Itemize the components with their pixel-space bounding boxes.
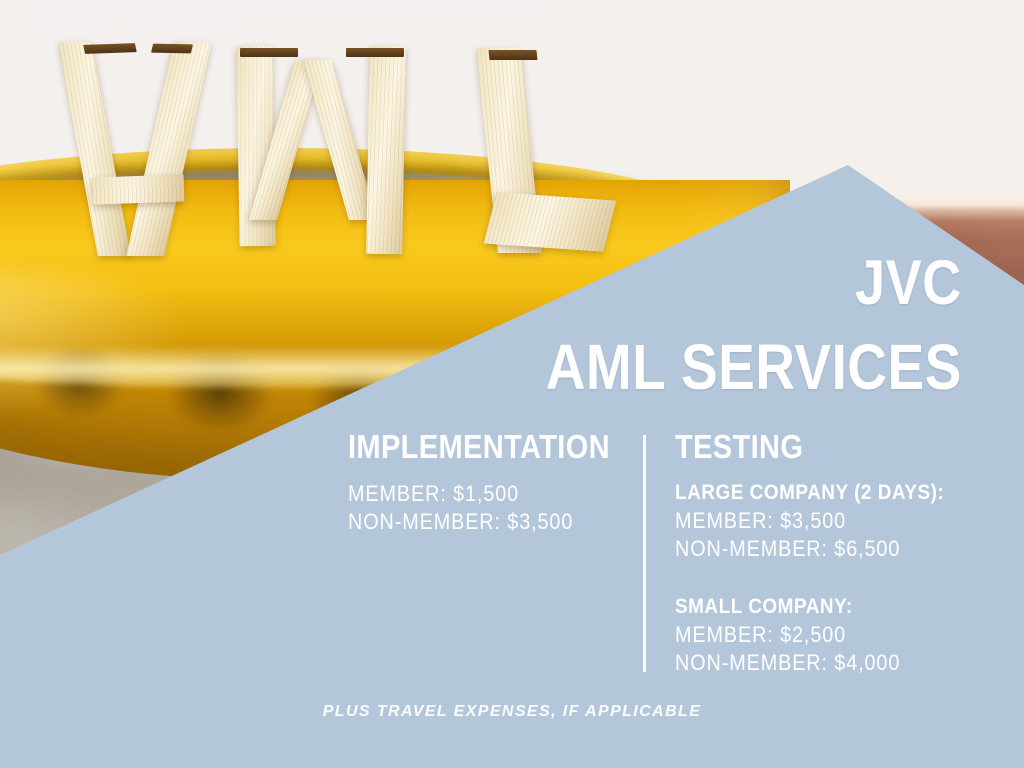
subheading-large-company: LARGE COMPANY (2 DAYS): (675, 479, 939, 507)
column-implementation: IMPLEMENTATION MEMBER: $1,500 NON-MEMBER… (348, 430, 618, 536)
wooden-letter-l-edge (488, 50, 537, 60)
wooden-letter-a-edge (151, 44, 193, 54)
wooden-letter-a (92, 174, 185, 204)
wooden-letter-m (366, 46, 406, 255)
title-line-jvc: JVC (546, 252, 962, 315)
testing-large-company-group: LARGE COMPANY (2 DAYS): MEMBER: $3,500 N… (675, 479, 968, 563)
testing-small-company-group: SMALL COMPANY: MEMBER: $2,500 NON-MEMBER… (675, 593, 968, 677)
title-line-aml-services: AML SERVICES (546, 335, 962, 399)
heading-testing: TESTING (675, 430, 933, 463)
pricing-columns: IMPLEMENTATION MEMBER: $1,500 NON-MEMBER… (348, 430, 968, 690)
poster-canvas: JVC AML SERVICES IMPLEMENTATION MEMBER: … (0, 0, 1024, 768)
price-line: NON-MEMBER: $4,000 (675, 649, 939, 677)
wooden-letter-l (484, 192, 616, 252)
price-line: MEMBER: $1,500 (348, 480, 591, 508)
column-divider (643, 435, 646, 672)
implementation-price-group: MEMBER: $1,500 NON-MEMBER: $3,500 (348, 480, 618, 536)
heading-implementation: IMPLEMENTATION (348, 430, 586, 463)
price-line: MEMBER: $2,500 (675, 621, 939, 649)
footnote-travel-expenses: PLUS TRAVEL EXPENSES, IF APPLICABLE (0, 703, 1024, 721)
subheading-small-company: SMALL COMPANY: (675, 593, 939, 621)
price-line: NON-MEMBER: $3,500 (348, 508, 591, 536)
wooden-letter-m-edge (346, 48, 404, 57)
column-testing: TESTING LARGE COMPANY (2 DAYS): MEMBER: … (675, 430, 968, 677)
wooden-letter-m-edge (240, 48, 298, 57)
poster-title: JVC AML SERVICES (478, 252, 962, 399)
wooden-letter-a-edge (83, 43, 137, 54)
price-line: NON-MEMBER: $6,500 (675, 535, 939, 563)
price-line: MEMBER: $3,500 (675, 507, 939, 535)
